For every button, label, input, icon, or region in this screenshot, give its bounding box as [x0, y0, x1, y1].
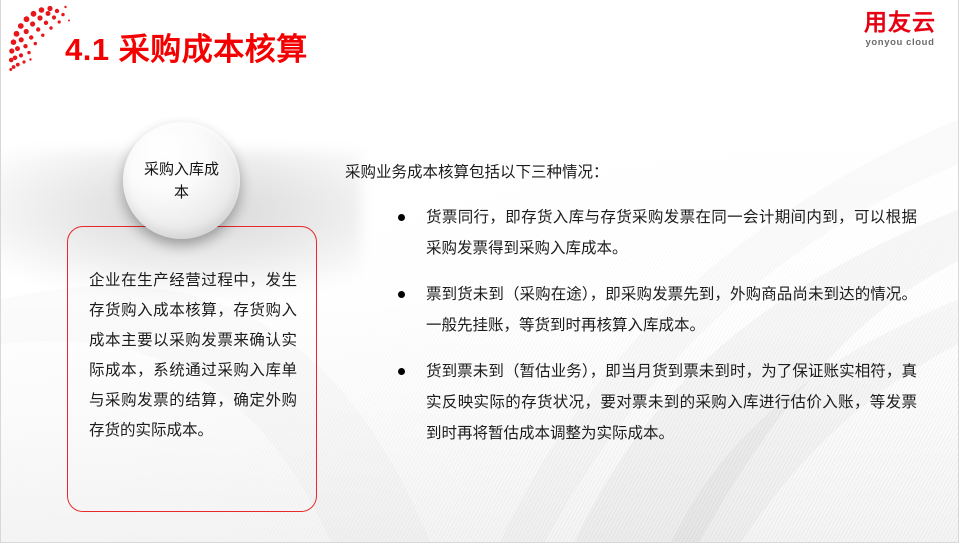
content-body: 采购业务成本核算包括以下三种情况： 货票同行，即存货入库与存货采购发票在同一会计… — [345, 160, 917, 449]
list-item: 货到票未到（暂估业务），即当月货到票未到时，为了保证账实相符，真实反映实际的存货… — [345, 356, 917, 449]
left-card-description: 企业在生产经营过程中，发生存货购入成本核算，存货购入成本主要以采购发票来确认实际… — [89, 266, 297, 446]
topic-bubble-label: 采购入库成本 — [140, 158, 224, 204]
presentation-slide: 4.1 采购成本核算 用友云 yonyou cloud 企业在生产经营过程中，发… — [0, 0, 959, 543]
list-item: 票到货未到（采购在途），即采购发票先到，外购商品尚未到达的情况。一般先挂账，等货… — [345, 279, 917, 341]
bullet-dot-icon — [398, 368, 405, 375]
list-item-text: 货票同行，即存货入库与存货采购发票在同一会计期间内到，可以根据采购发票得到采购入… — [426, 209, 917, 257]
bullet-dot-icon — [398, 214, 405, 221]
list-item: 货票同行，即存货入库与存货采购发票在同一会计期间内到，可以根据采购发票得到采购入… — [345, 202, 917, 264]
brand-logo: 用友云 yonyou cloud — [864, 11, 936, 48]
list-item-text: 货到票未到（暂估业务），即当月货到票未到时，为了保证账实相符，真实反映实际的存货… — [426, 363, 917, 442]
content-bullet-list: 货票同行，即存货入库与存货采购发票在同一会计期间内到，可以根据采购发票得到采购入… — [345, 202, 917, 449]
bullet-dot-icon — [398, 291, 405, 298]
topic-bubble: 采购入库成本 — [123, 122, 240, 239]
content-lead-text: 采购业务成本核算包括以下三种情况： — [345, 160, 917, 186]
page-title: 4.1 采购成本核算 — [65, 24, 308, 69]
logo-english-text: yonyou cloud — [864, 38, 936, 48]
logo-chinese-text: 用友云 — [864, 11, 936, 34]
list-item-text: 票到货未到（采购在途），即采购发票先到，外购商品尚未到达的情况。一般先挂账，等货… — [426, 286, 917, 334]
